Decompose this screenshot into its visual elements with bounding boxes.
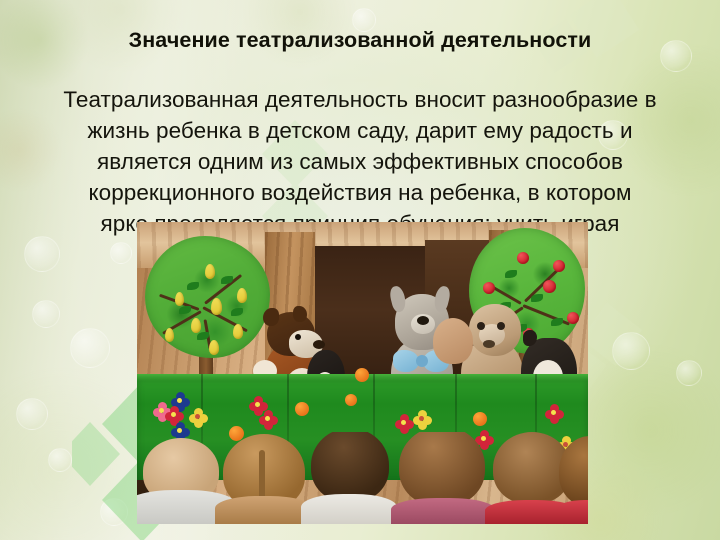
child-silhouette [559,432,588,524]
felt-flower [189,408,209,428]
felt-flower [395,414,415,434]
apple-fruit [567,312,579,324]
felt-flower [259,410,279,430]
slide-photo [137,222,588,524]
body-line: является одним из самых эффективных спос… [12,146,708,177]
pear-tree-decoration [145,236,270,358]
child-head-behind-stage [433,318,473,364]
slide-body-text: Театрализованная деятельность вносит раз… [12,84,708,239]
children-audience [137,432,588,524]
felt-orange [345,394,357,406]
page-title: Значение театрализованной деятельности [40,28,680,53]
child-silhouette [213,432,313,524]
felt-orange [473,412,487,426]
child-silhouette [385,432,497,524]
pear-fruit [209,340,219,355]
apple-fruit [517,252,529,264]
child-silhouette [301,432,397,524]
pear-fruit [205,264,215,279]
felt-orange [355,368,369,382]
apple-fruit [553,260,565,272]
body-line: Театрализованная деятельность вносит раз… [12,84,708,115]
felt-flower [413,410,433,430]
pear-fruit [237,288,247,303]
apple-fruit [483,282,495,294]
pear-fruit [165,328,174,342]
apple-fruit [543,280,556,293]
body-line: коррекционного воздействия на ребенка, в… [12,177,708,208]
pear-fruit [211,298,222,315]
felt-flower [545,404,565,424]
presentation-slide: Значение театрализованной деятельности Т… [0,0,720,540]
body-line: жизнь ребенка в детском саду, дарит ему … [12,115,708,146]
felt-orange [295,402,309,416]
pear-fruit [191,318,201,333]
pear-fruit [233,324,243,339]
pear-fruit [175,292,184,306]
